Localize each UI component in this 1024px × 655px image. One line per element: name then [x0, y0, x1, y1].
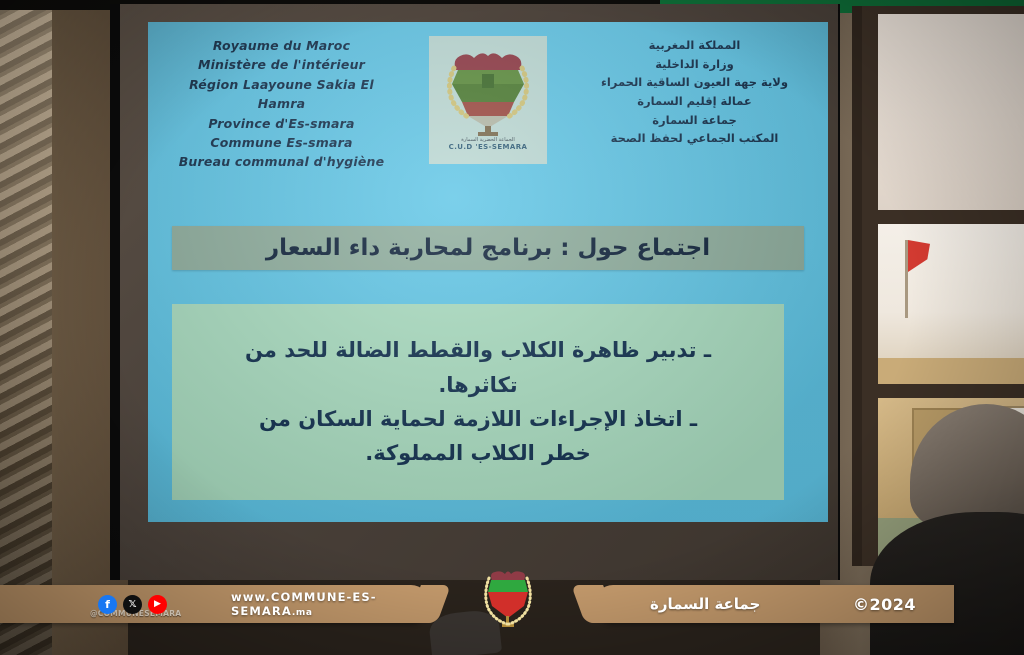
header-fr-line: Région Laayoune Sakia El Hamra [174, 75, 389, 114]
social-banner: f 𝕏 ▶ www.COMMUNE-ES-SEMARA.ma @COMMUNES… [0, 585, 430, 623]
courtyard-window [994, 406, 1024, 462]
courtyard-door [912, 408, 988, 508]
commune-name-arabic: جماعة السمارة [650, 595, 760, 613]
slide-title-band: اجتماع حول : برنامج لمحاربة داء السعار [172, 226, 804, 270]
youtube-icon[interactable]: ▶ [148, 595, 167, 614]
window-sill [878, 358, 1024, 386]
social-icons: f 𝕏 ▶ [98, 595, 167, 614]
header-ar-line: ولاية جهة العيون الساقية الحمراء [587, 73, 802, 92]
window [852, 6, 1024, 566]
logo-latin-caption: C.U.D 'ES-SEMARA [449, 143, 528, 151]
slide-body-band: ـ تدبير ظاهرة الكلاب والقطط الضالة للحد … [172, 304, 784, 500]
header-fr-line: Ministère de l'intérieur [174, 55, 389, 74]
header-ar-line: جماعة السمارة [587, 111, 802, 130]
header-ar-line: عمالة إقليم السمارة [587, 92, 802, 111]
header-ar-line: المملكة المغربية [587, 36, 802, 55]
commune-emblem-icon [436, 40, 540, 136]
copyright-label: ©2024 [853, 595, 916, 614]
flag-pole [905, 240, 908, 318]
slide-body-line: ـ تدبير ظاهرة الكلاب والقطط الضالة للحد … [245, 335, 711, 365]
facebook-icon[interactable]: f [98, 595, 117, 614]
slide-body-line: خطر الكلاب المملوكة. [365, 438, 591, 468]
slide-body-line: ـ اتخاذ الإجراءات اللازمة لحماية السكان … [259, 404, 697, 434]
slide-body-line: تكاثرها. [438, 370, 517, 400]
website-url-tld: .ma [292, 608, 313, 618]
slide-header: Royaume du Maroc Ministère de l'intérieu… [148, 36, 828, 172]
window-mullion [878, 210, 1024, 224]
header-arabic-block: المملكة المغربية وزارة الداخلية ولاية جه… [587, 36, 802, 148]
window-pane-top [878, 14, 1024, 210]
banner-emblem-icon [478, 566, 538, 640]
courtyard-wall [878, 398, 1024, 518]
header-ar-line: وزارة الداخلية [587, 55, 802, 74]
header-fr-line: Bureau communal d'hygiène [174, 152, 389, 171]
x-twitter-icon[interactable]: 𝕏 [123, 595, 142, 614]
moroccan-flag [908, 240, 930, 272]
commune-logo: الجماعة الحضرية السمارة C.U.D 'ES-SEMARA [429, 36, 547, 164]
header-fr-line: Province d'Es-smara [174, 114, 389, 133]
commune-banner: جماعة السمارة ©2024 [594, 585, 954, 623]
photo-frame: Royaume du Maroc Ministère de l'intérieu… [0, 0, 1024, 655]
slide-title: اجتماع حول : برنامج لمحاربة داء السعار [266, 235, 710, 261]
blind-shading [0, 0, 52, 655]
header-fr-line: Royaume du Maroc [174, 36, 389, 55]
courtyard-ground [878, 518, 1024, 588]
website-url[interactable]: www.COMMUNE-ES-SEMARA.ma [231, 590, 430, 618]
window-pane-bottom [878, 398, 1024, 588]
window-mullion-lower [878, 384, 1024, 398]
header-ar-line: المكتب الجماعي لحفظ الصحة [587, 129, 802, 148]
header-french-block: Royaume du Maroc Ministère de l'intérieu… [174, 36, 389, 172]
presentation-slide: Royaume du Maroc Ministère de l'intérieu… [148, 22, 828, 522]
header-fr-line: Commune Es-smara [174, 133, 389, 152]
